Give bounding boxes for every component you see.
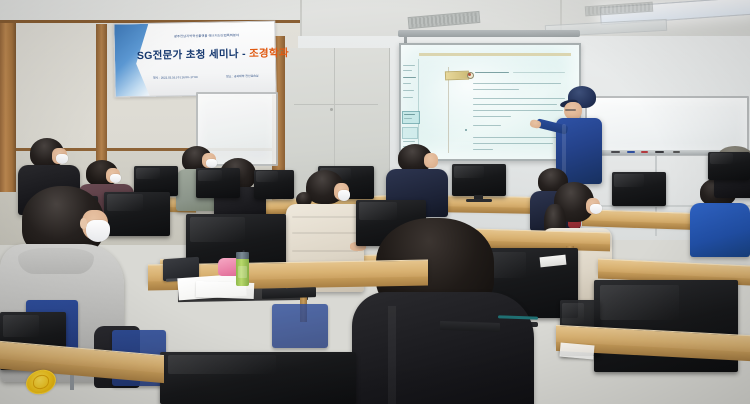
banner-title-highlight: 조경학과 xyxy=(249,47,289,60)
face xyxy=(424,153,438,168)
keyboard xyxy=(262,287,316,299)
face-mask xyxy=(590,204,602,214)
banner-title-main: SG전문가 초청 세미나 - xyxy=(137,48,246,62)
face-mask xyxy=(338,190,350,201)
desktop-monitor xyxy=(196,168,240,198)
slide-thumbnail xyxy=(402,127,418,139)
slide-sidebar-divider xyxy=(418,59,419,153)
seminar-banner: 광주전남지역혁신플랫폼 에너지신산업특화분야 SG전문가 초청 세미나 - 조경… xyxy=(113,20,276,97)
classroom-photo: 광주전남지역혁신플랫폼 에너지신산업특화분야 SG전문가 초청 세미나 - 조경… xyxy=(0,0,750,404)
banner-organization-line: 광주전남지역혁신플랫폼 에너지신산업특화분야 xyxy=(145,32,269,39)
bottle-label xyxy=(238,266,247,278)
face-mask xyxy=(56,154,68,164)
puffer-seam xyxy=(292,216,358,218)
wall-cabinet-seam xyxy=(294,104,378,105)
marker-icon xyxy=(611,151,620,153)
ear xyxy=(80,218,87,229)
slide-bullet-icon xyxy=(465,129,467,131)
glasses-icon xyxy=(565,109,576,111)
slide-highlight-tag xyxy=(445,71,469,81)
hoodie-hood xyxy=(18,248,94,274)
torso xyxy=(352,292,534,404)
face-mask xyxy=(86,220,110,242)
marker-icon xyxy=(673,151,680,153)
desktop-monitor xyxy=(160,352,356,404)
cabinet-handle xyxy=(330,108,333,111)
torso xyxy=(690,203,750,257)
banner-footer-left: 일시 : 2022.03.16.(수) 16:00~17:00 xyxy=(147,75,203,80)
banner-title: SG전문가 초청 세미나 - 조경학과 xyxy=(137,46,273,64)
puffer-seam xyxy=(292,232,358,234)
desktop-monitor xyxy=(612,172,666,206)
classroom-chair xyxy=(272,304,328,348)
bottle-cap xyxy=(236,252,249,259)
puffer-seam xyxy=(292,250,358,252)
coat-seam xyxy=(388,306,396,404)
face-mask xyxy=(110,174,121,183)
projector-screen-case xyxy=(398,30,580,37)
marker-icon xyxy=(641,151,648,153)
slide-header-band xyxy=(419,53,571,56)
marker-icon xyxy=(627,151,635,153)
attendee-foreground-dark xyxy=(352,218,542,404)
wall-pillar-left xyxy=(0,22,16,192)
desktop-monitor xyxy=(708,152,750,180)
marker-icon xyxy=(655,151,664,153)
banner-footer-right: 장소 : 공과대학 전산실습실 xyxy=(213,74,271,79)
paper-handout xyxy=(559,343,594,360)
desktop-monitor xyxy=(452,164,506,196)
